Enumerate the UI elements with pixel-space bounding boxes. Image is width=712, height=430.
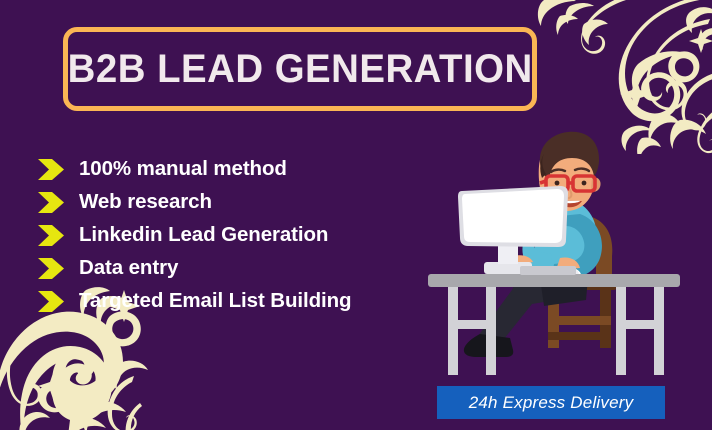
feature-label: 100% manual method <box>79 159 287 180</box>
man-working-at-desk-illustration <box>420 128 700 380</box>
yellow-chevron-arrow-icon <box>38 291 64 312</box>
delivery-badge-label: 24h Express Delivery <box>469 393 634 413</box>
feature-label: Linkedin Lead Generation <box>79 225 328 246</box>
list-item: 100% manual method <box>38 158 351 181</box>
yellow-chevron-arrow-icon <box>38 159 64 180</box>
list-item: Linkedin Lead Generation <box>38 224 351 247</box>
banner-root: B2B LEAD GENERATION 100% manual method W… <box>0 0 712 430</box>
feature-list: 100% manual method Web research Linkedin… <box>38 158 351 313</box>
yellow-chevron-arrow-icon <box>38 225 64 246</box>
feature-label: Targeted Email List Building <box>79 291 351 312</box>
list-item: Web research <box>38 191 351 214</box>
yellow-chevron-arrow-icon <box>38 192 64 213</box>
list-item: Data entry <box>38 257 351 280</box>
delivery-badge[interactable]: 24h Express Delivery <box>437 386 665 419</box>
title-box: B2B LEAD GENERATION <box>63 27 537 111</box>
yellow-chevron-arrow-icon <box>38 258 64 279</box>
feature-label: Data entry <box>79 258 178 279</box>
feature-label: Web research <box>79 192 212 213</box>
page-title: B2B LEAD GENERATION <box>68 49 533 89</box>
list-item: Targeted Email List Building <box>38 290 351 313</box>
